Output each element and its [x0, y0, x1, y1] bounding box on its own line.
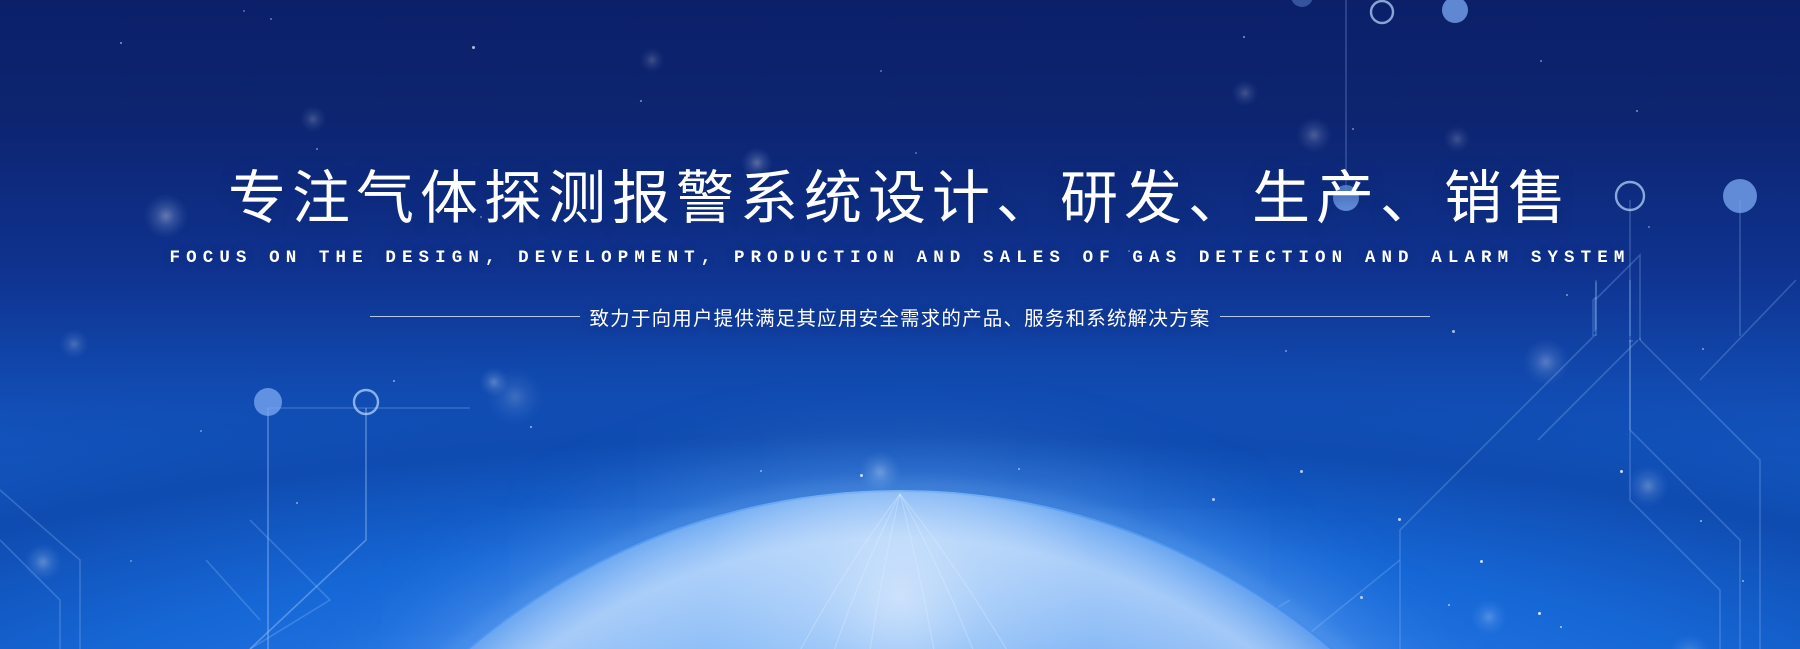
tagline-rule-right: [1220, 316, 1430, 317]
hero-banner: 专注气体探测报警系统设计、研发、生产、销售 FOCUS ON THE DESIG…: [0, 0, 1800, 649]
tagline-rule-left: [370, 316, 580, 317]
page-title: 专注气体探测报警系统设计、研发、生产、销售: [0, 168, 1800, 229]
tagline-text: 致力于向用户提供满足其应用安全需求的产品、服务和系统解决方案: [580, 302, 1219, 331]
banner-copy: 专注气体探测报警系统设计、研发、生产、销售 FOCUS ON THE DESIG…: [0, 168, 1800, 331]
globe-sphere: [230, 490, 1570, 649]
page-subtitle-english: FOCUS ON THE DESIGN, DEVELOPMENT, PRODUC…: [0, 248, 1800, 268]
tagline-row: 致力于向用户提供满足其应用安全需求的产品、服务和系统解决方案: [0, 302, 1800, 331]
